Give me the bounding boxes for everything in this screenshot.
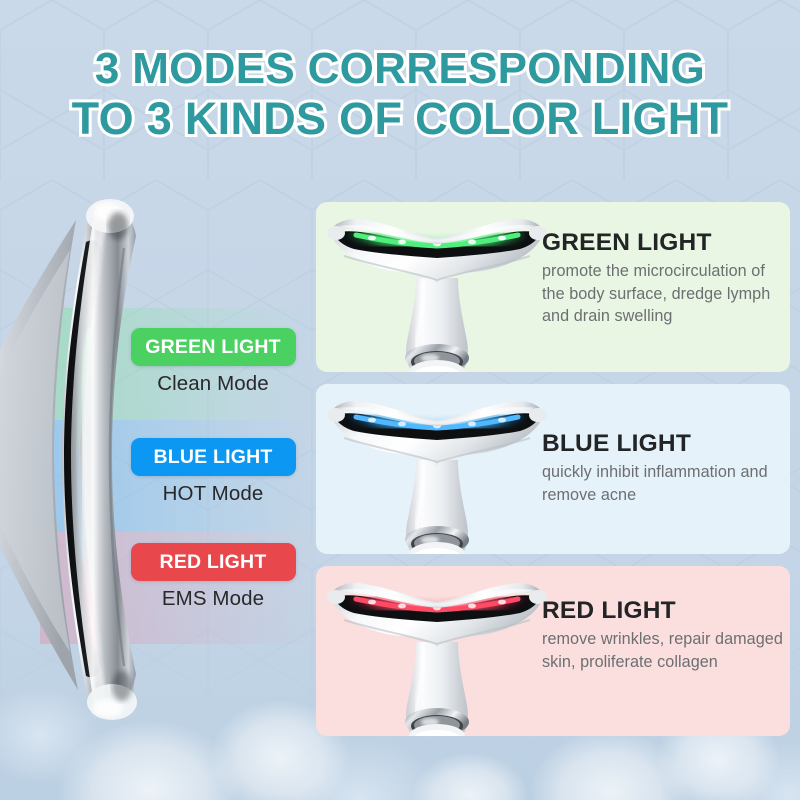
card-green-light[interactable]: GREEN LIGHT promote the microcirculation… <box>316 202 790 372</box>
mode-red-sublabel: EMS Mode <box>118 587 308 611</box>
title-line-2: TO 3 KINDS OF COLOR LIGHT <box>0 94 800 144</box>
card-blue-light[interactable]: BLUE LIGHT quickly inhibit inflammation … <box>316 384 790 554</box>
card-red-description: remove wrinkles, repair damaged skin, pr… <box>542 628 790 673</box>
mode-blue[interactable]: BLUE LIGHT HOT Mode <box>118 438 308 506</box>
mode-green-sublabel: Clean Mode <box>118 372 308 396</box>
card-blue-description: quickly inhibit inflammation and remove … <box>542 461 790 506</box>
card-green-description: promote the microcirculation of the body… <box>542 260 790 328</box>
mode-red[interactable]: RED LIGHT EMS Mode <box>118 543 308 611</box>
pill-blue-light[interactable]: BLUE LIGHT <box>131 438 296 476</box>
page-title: 3 MODES CORRESPONDING TO 3 KINDS OF COLO… <box>0 44 800 144</box>
feature-cards-list: GREEN LIGHT promote the microcirculation… <box>316 202 790 748</box>
card-red-light[interactable]: RED LIGHT remove wrinkles, repair damage… <box>316 566 790 736</box>
mode-blue-sublabel: HOT Mode <box>118 482 308 506</box>
beauty-device-front-view-blue-icon <box>324 394 549 554</box>
title-line-1: 3 MODES CORRESPONDING <box>0 44 800 94</box>
card-red-title: RED LIGHT <box>542 597 790 625</box>
card-green-text: GREEN LIGHT promote the microcirculation… <box>542 229 790 328</box>
left-panel: GREEN LIGHT Clean Mode BLUE LIGHT HOT Mo… <box>0 180 320 740</box>
pill-red-light[interactable]: RED LIGHT <box>131 543 296 581</box>
beauty-device-front-view-red-icon <box>324 576 549 736</box>
pill-green-light[interactable]: GREEN LIGHT <box>131 328 296 366</box>
beauty-device-front-view-green-icon <box>324 212 549 372</box>
card-green-title: GREEN LIGHT <box>542 229 790 257</box>
card-red-text: RED LIGHT remove wrinkles, repair damage… <box>542 597 790 673</box>
mode-green[interactable]: GREEN LIGHT Clean Mode <box>118 328 308 396</box>
card-blue-title: BLUE LIGHT <box>542 430 790 458</box>
card-blue-text: BLUE LIGHT quickly inhibit inflammation … <box>542 430 790 506</box>
